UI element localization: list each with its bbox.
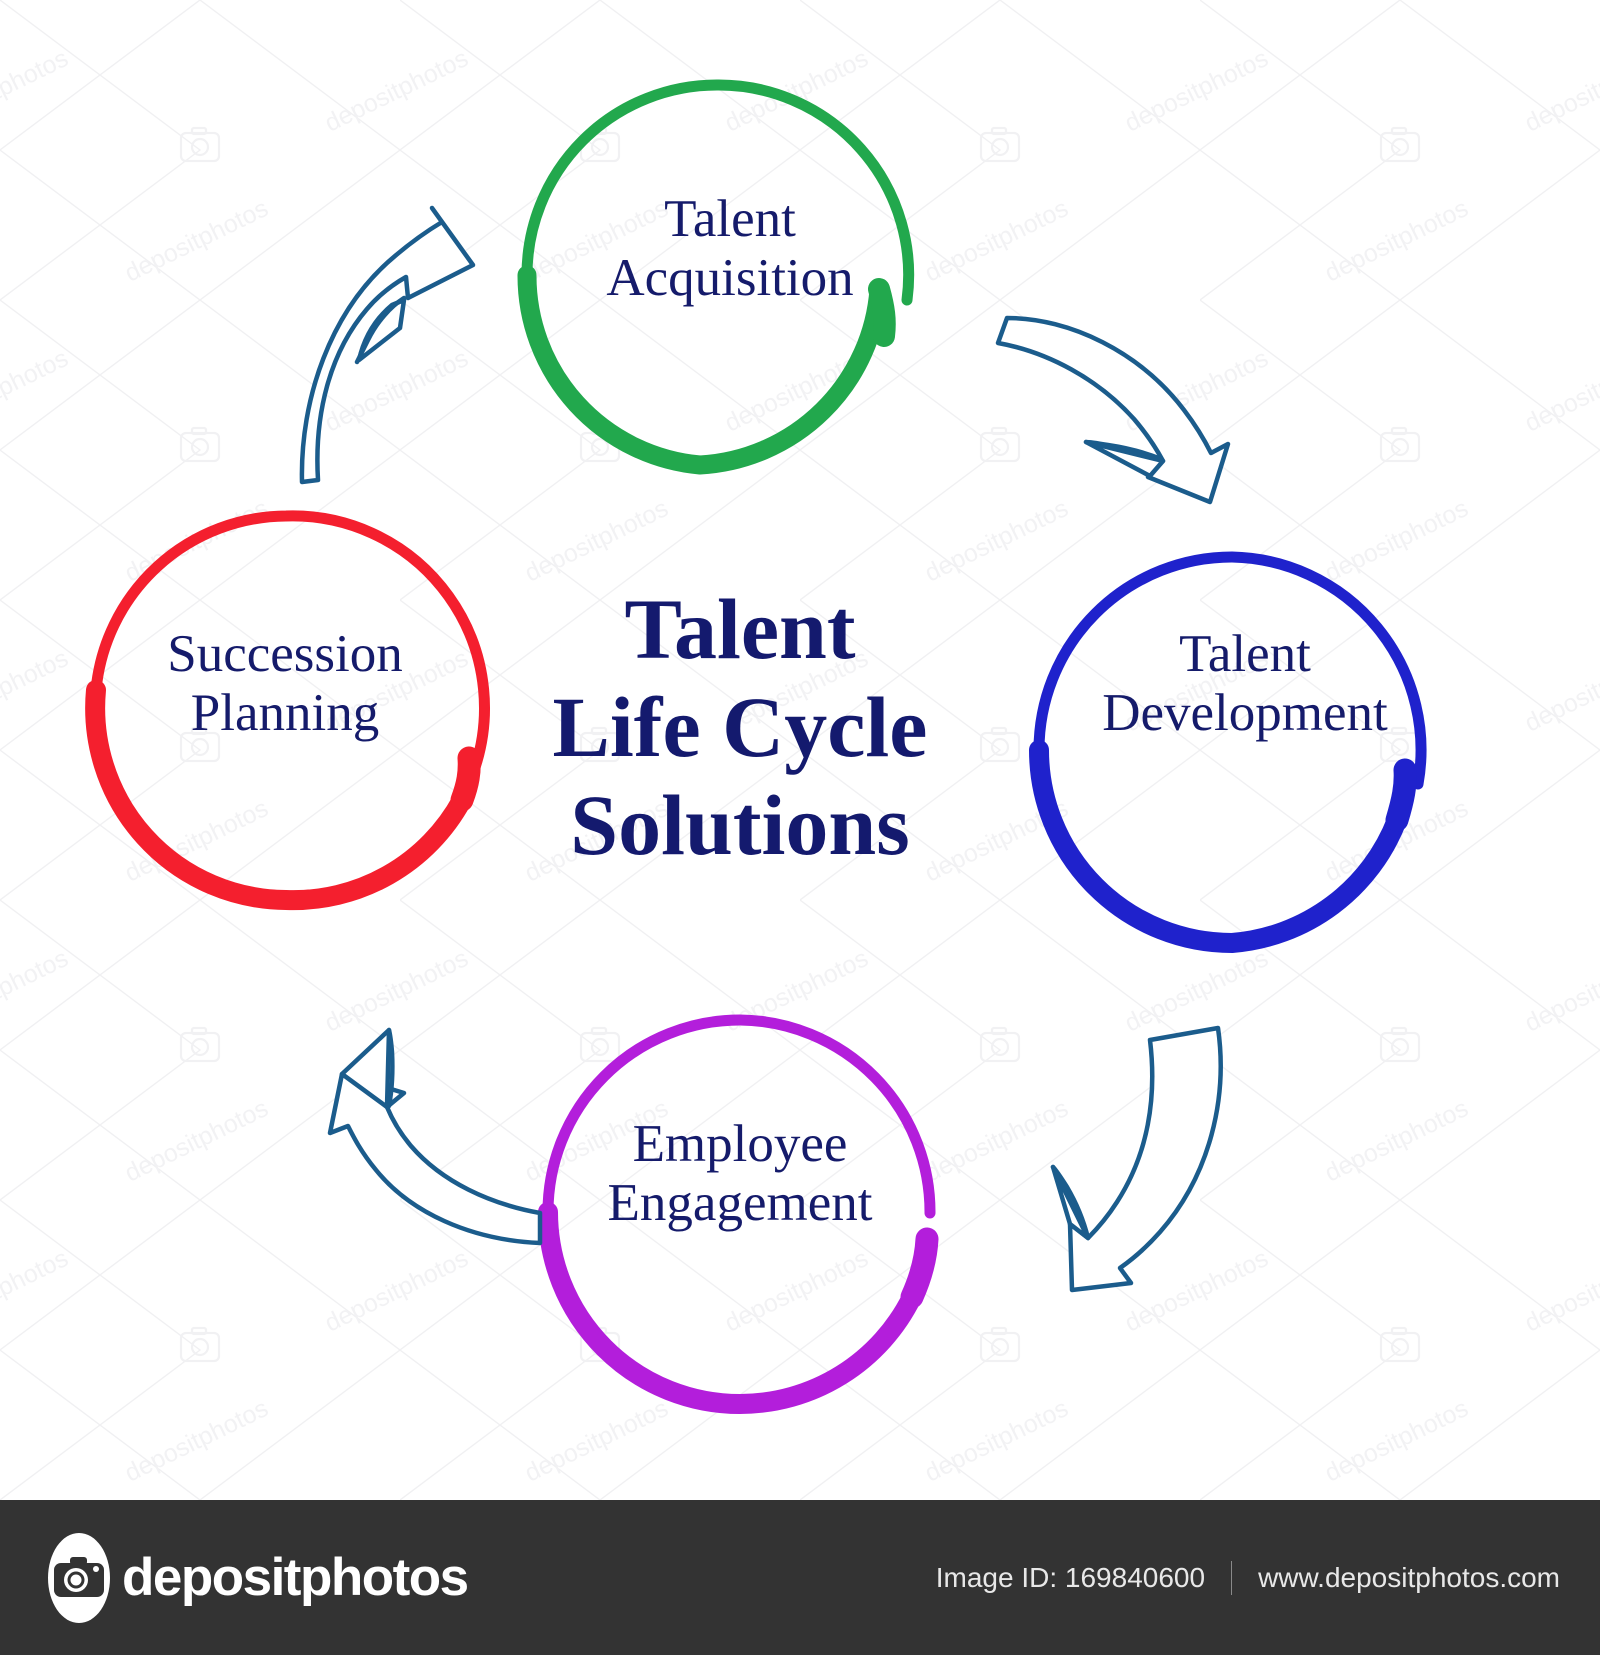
node-label-line: Talent — [1035, 625, 1455, 684]
footer-divider — [1231, 1561, 1232, 1595]
node-label-line: Planning — [75, 684, 495, 743]
node-label-employee-engagement: Employee Engagement — [530, 1115, 950, 1234]
node-label-line: Development — [1035, 684, 1455, 743]
footer-brand-text: depositphotos — [122, 1547, 468, 1608]
node-label-succession-planning: Succession Planning — [75, 625, 495, 744]
node-label-line: Engagement — [530, 1174, 950, 1233]
node-label-line: Succession — [75, 625, 495, 684]
diagram-title: Talent Life Cycle Solutions — [490, 580, 990, 874]
footer-bar: depositphotos Image ID: 169840600 www.de… — [0, 1500, 1600, 1655]
arrow-engagement-to-succession — [330, 1030, 540, 1243]
arrow-acquisition-to-development — [998, 318, 1228, 502]
arrow-development-to-engagement — [1053, 1028, 1221, 1290]
node-label-talent-development: Talent Development — [1035, 625, 1455, 744]
node-label-talent-acquisition: Talent Acquisition — [520, 190, 940, 309]
camera-icon — [42, 1533, 116, 1623]
footer-meta: Image ID: 169840600 www.depositphotos.co… — [936, 1561, 1560, 1595]
node-label-line: Acquisition — [520, 249, 940, 308]
footer-site-url[interactable]: www.depositphotos.com — [1258, 1562, 1560, 1594]
node-label-line: Talent — [520, 190, 940, 249]
diagram-title-line: Solutions — [490, 776, 990, 874]
diagram-title-line: Life Cycle — [490, 678, 990, 776]
node-circle-talent-development[interactable] — [1039, 557, 1421, 943]
footer-image-id: Image ID: 169840600 — [936, 1562, 1205, 1594]
depositphotos-logo[interactable]: depositphotos — [42, 1533, 468, 1623]
arrow-succession-to-acquisition — [302, 208, 473, 482]
node-label-line: Employee — [530, 1115, 950, 1174]
diagram-title-line: Talent — [490, 580, 990, 678]
diagram-canvas: depositphotos depositphotos depositphoto… — [0, 0, 1600, 1500]
